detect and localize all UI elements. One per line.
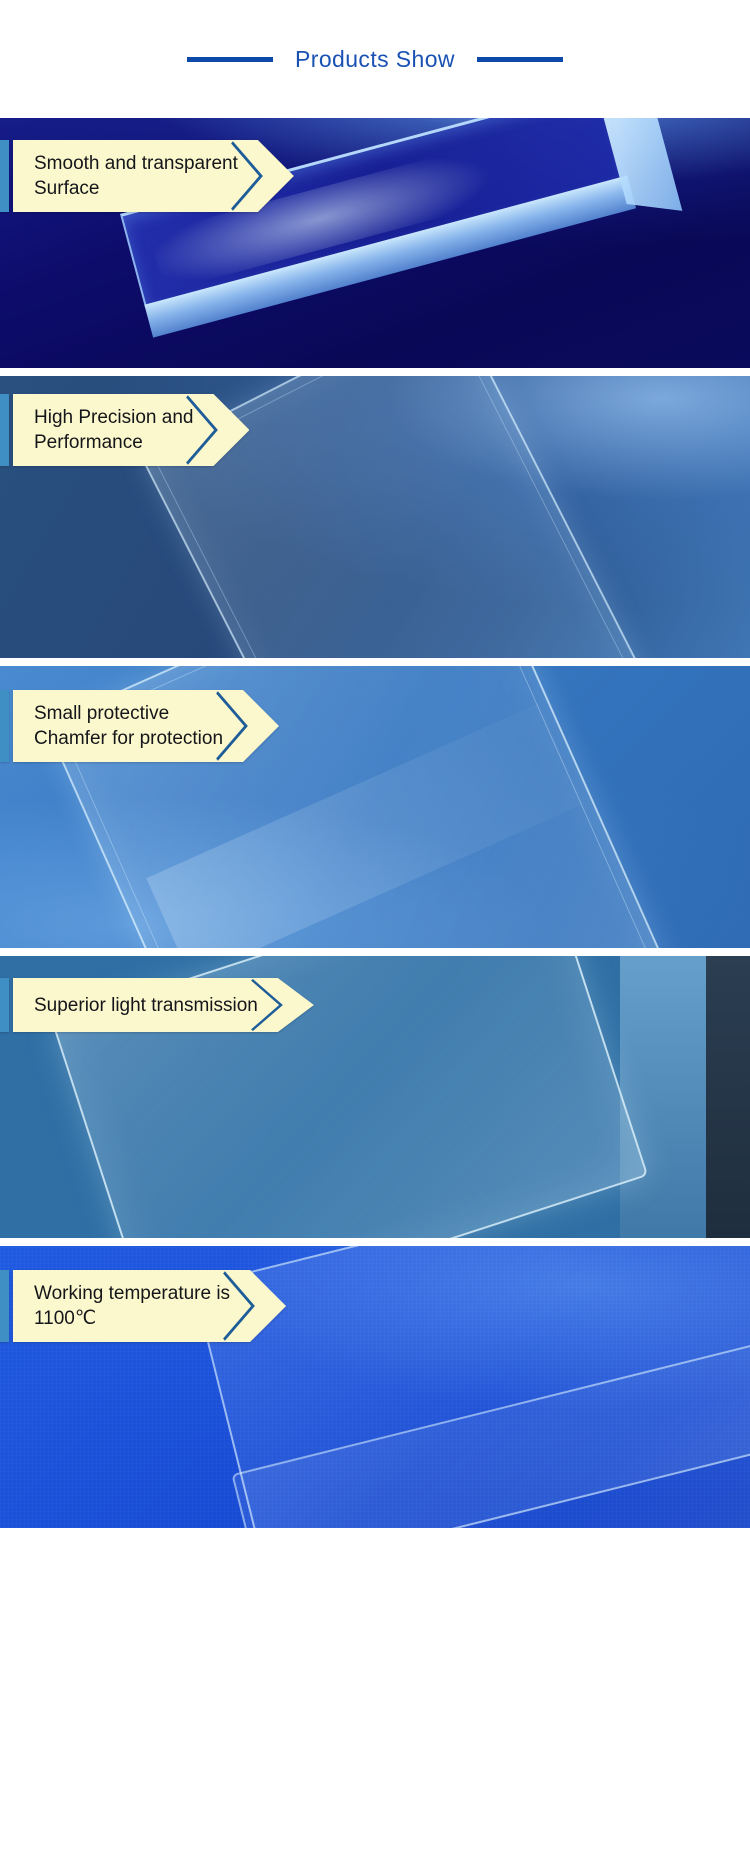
label-line-2: Performance: [34, 430, 193, 455]
label-accent-gap: [9, 978, 13, 1032]
feature-label-2: High Precision and Performance: [0, 394, 249, 466]
product-banner-3: Small protective Chamfer for protection: [0, 666, 750, 948]
header-inner: Products Show: [187, 46, 563, 73]
label-accent-bar: [0, 394, 9, 466]
label-accent-gap: [9, 140, 13, 212]
background-side-panel: [620, 956, 706, 1238]
label-accent-bar: [0, 1270, 9, 1342]
label-line-1: Small protective: [34, 701, 223, 726]
label-accent-gap: [9, 1270, 13, 1342]
label-body: Superior light transmission: [13, 978, 314, 1032]
label-line-2: 1100℃: [34, 1306, 230, 1331]
label-line-2: Surface: [34, 176, 238, 201]
label-accent-gap: [9, 690, 13, 762]
page-header: Products Show: [0, 0, 750, 118]
label-body: Small protective Chamfer for protection: [13, 690, 279, 762]
background-dark-edge: [706, 956, 750, 1238]
label-accent-bar: [0, 978, 9, 1032]
label-accent-bar: [0, 690, 9, 762]
label-body: Smooth and transparent Surface: [13, 140, 294, 212]
label-line-1: High Precision and: [34, 405, 193, 430]
label-accent-gap: [9, 394, 13, 466]
product-banner-2: High Precision and Performance: [0, 376, 750, 658]
product-banner-1: Smooth and transparent Surface: [0, 118, 750, 368]
label-body: High Precision and Performance: [13, 394, 249, 466]
right-rule-decoration: [477, 57, 563, 62]
feature-label-4: Superior light transmission: [0, 978, 314, 1032]
feature-label-5: Working temperature is 1100℃: [0, 1270, 286, 1342]
product-banner-5: Working temperature is 1100℃: [0, 1246, 750, 1528]
left-rule-decoration: [187, 57, 273, 62]
page-title: Products Show: [295, 46, 455, 73]
label-line-1: Working temperature is: [34, 1281, 230, 1306]
feature-label-3: Small protective Chamfer for protection: [0, 690, 279, 762]
label-body: Working temperature is 1100℃: [13, 1270, 286, 1342]
label-line-1: Superior light transmission: [34, 993, 258, 1018]
label-line-2: Chamfer for protection: [34, 726, 223, 751]
feature-label-1: Smooth and transparent Surface: [0, 140, 294, 212]
label-accent-bar: [0, 140, 9, 212]
label-line-1: Smooth and transparent: [34, 151, 238, 176]
product-banner-4: Superior light transmission: [0, 956, 750, 1238]
